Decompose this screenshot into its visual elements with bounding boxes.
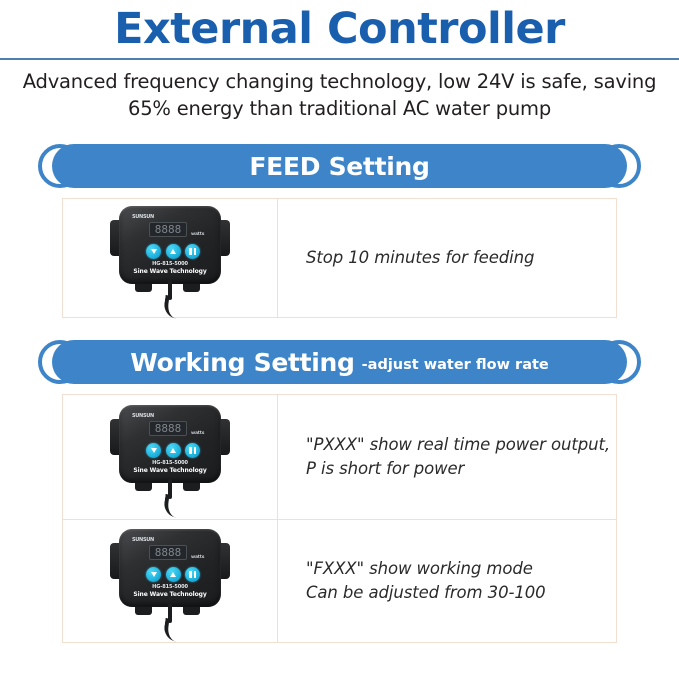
working-banner-title: Working Setting <box>130 348 354 377</box>
device-cable-tail <box>163 494 183 518</box>
decrease-button[interactable] <box>146 443 161 458</box>
feed-banner-title: FEED Setting <box>249 152 429 181</box>
table-row: SUNSUN 8888 watts HG-815-5000 Sine Wave … <box>63 519 616 642</box>
description-line: Stop 10 minutes for feeding <box>306 246 534 270</box>
led-display: 8888 <box>149 545 187 560</box>
mode-description: "FXXX" show working mode Can be adjusted… <box>306 557 546 605</box>
device-foot-right <box>183 483 200 491</box>
watts-label: watts <box>191 431 204 436</box>
device-foot-left <box>135 284 152 292</box>
device-foot-right <box>183 607 200 615</box>
feed-table: SUNSUN 8888 watts HG-815-5000 Sine Wave … <box>62 198 617 318</box>
pause-button[interactable] <box>185 443 200 458</box>
device-cell: SUNSUN 8888 watts HG-815-5000 Sine Wave … <box>63 199 278 317</box>
spacer-top <box>0 122 679 144</box>
pause-icon <box>189 571 196 578</box>
device-tagline-label: Sine Wave Technology <box>106 591 234 598</box>
table-row: SUNSUN 8888 watts HG-815-5000 Sine Wave … <box>63 395 616 519</box>
feed-section-banner: FEED Setting <box>38 144 641 188</box>
led-display-value: 8888 <box>155 224 182 235</box>
device-button-row <box>146 244 200 259</box>
triangle-up-icon <box>170 249 176 254</box>
triangle-down-icon <box>151 448 157 453</box>
power-description: "PXXX" show real time power output, P is… <box>306 433 610 481</box>
description-line: "FXXX" show working mode <box>306 557 546 581</box>
increase-button[interactable] <box>166 443 181 458</box>
device-tagline-label: Sine Wave Technology <box>106 467 234 474</box>
description-line: "PXXX" show real time power output, <box>306 433 610 457</box>
increase-button[interactable] <box>166 567 181 582</box>
led-display: 8888 <box>149 222 187 237</box>
device-button-row <box>146 443 200 458</box>
brand-logo-mark: SUNSUN <box>132 215 154 220</box>
device-model-label: HG-815-5000 <box>106 460 234 466</box>
triangle-up-icon <box>170 572 176 577</box>
spacer-middle <box>0 318 679 340</box>
description-cell: Stop 10 minutes for feeding <box>278 199 616 317</box>
device-cell: SUNSUN 8888 watts HG-815-5000 Sine Wave … <box>63 395 278 519</box>
device-foot-left <box>135 607 152 615</box>
description-line: Can be adjusted from 30-100 <box>306 581 546 605</box>
description-cell: "FXXX" show working mode Can be adjusted… <box>278 520 616 642</box>
brand-logo-mark: SUNSUN <box>132 538 154 543</box>
feed-description: Stop 10 minutes for feeding <box>306 246 534 270</box>
working-section-banner: Working Setting -adjust water flow rate <box>38 340 641 384</box>
led-display-value: 8888 <box>155 423 182 434</box>
device-model-label: HG-815-5000 <box>106 584 234 590</box>
working-table: SUNSUN 8888 watts HG-815-5000 Sine Wave … <box>62 394 617 643</box>
description-cell: "PXXX" show real time power output, P is… <box>278 395 616 519</box>
triangle-up-icon <box>170 448 176 453</box>
controller-device: SUNSUN 8888 watts HG-815-5000 Sine Wave … <box>106 529 234 633</box>
controller-device: SUNSUN 8888 watts HG-815-5000 Sine Wave … <box>106 206 234 310</box>
decrease-button[interactable] <box>146 567 161 582</box>
device-cable-tail <box>163 295 183 319</box>
table-row: SUNSUN 8888 watts HG-815-5000 Sine Wave … <box>63 199 616 317</box>
device-cable-tail <box>163 618 183 642</box>
watts-label: watts <box>191 555 204 560</box>
increase-button[interactable] <box>166 244 181 259</box>
pause-icon <box>189 447 196 454</box>
device-model-label: HG-815-5000 <box>106 261 234 267</box>
working-banner-pill: Working Setting -adjust water flow rate <box>52 340 627 384</box>
page-subtitle: Advanced frequency changing technology, … <box>0 60 679 122</box>
controller-device: SUNSUN 8888 watts HG-815-5000 Sine Wave … <box>106 405 234 509</box>
watts-label: watts <box>191 232 204 237</box>
device-cell: SUNSUN 8888 watts HG-815-5000 Sine Wave … <box>63 520 278 642</box>
decrease-button[interactable] <box>146 244 161 259</box>
brand-logo-mark: SUNSUN <box>132 414 154 419</box>
page-header: External Controller Advanced frequency c… <box>0 0 679 122</box>
device-foot-right <box>183 284 200 292</box>
device-button-row <box>146 567 200 582</box>
led-display: 8888 <box>149 421 187 436</box>
device-tagline-label: Sine Wave Technology <box>106 268 234 275</box>
pause-button[interactable] <box>185 244 200 259</box>
description-line: P is short for power <box>306 457 610 481</box>
pause-button[interactable] <box>185 567 200 582</box>
page-title: External Controller <box>0 2 679 58</box>
feed-banner-pill: FEED Setting <box>52 144 627 188</box>
led-display-value: 8888 <box>155 547 182 558</box>
triangle-down-icon <box>151 572 157 577</box>
working-banner-subtitle: -adjust water flow rate <box>362 357 549 373</box>
pause-icon <box>189 248 196 255</box>
device-foot-left <box>135 483 152 491</box>
triangle-down-icon <box>151 249 157 254</box>
